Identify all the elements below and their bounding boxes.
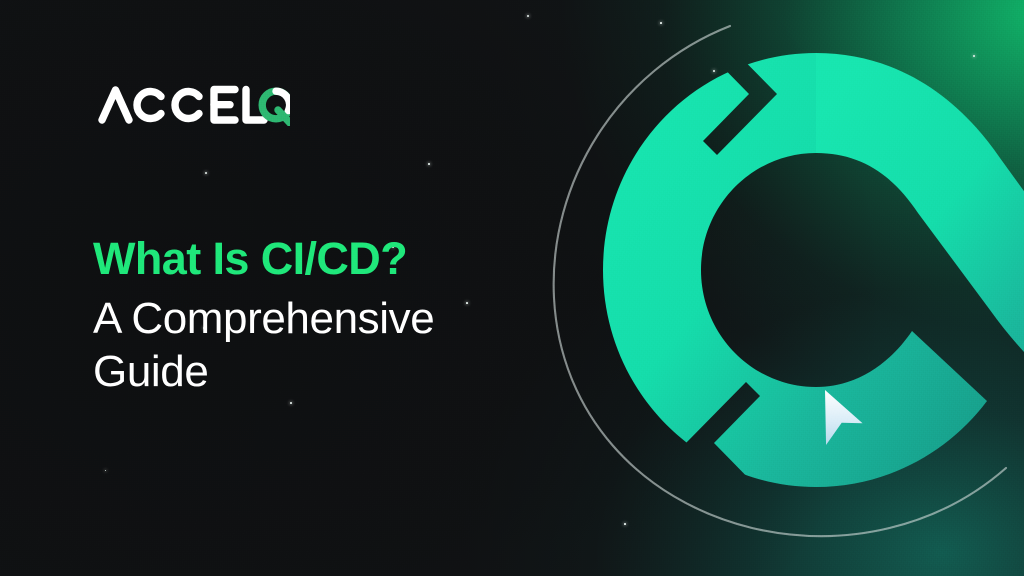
hero-banner: What Is CI/CD? A Comprehensive Guide — [0, 0, 1024, 576]
background-noise-overlay — [0, 0, 1024, 576]
